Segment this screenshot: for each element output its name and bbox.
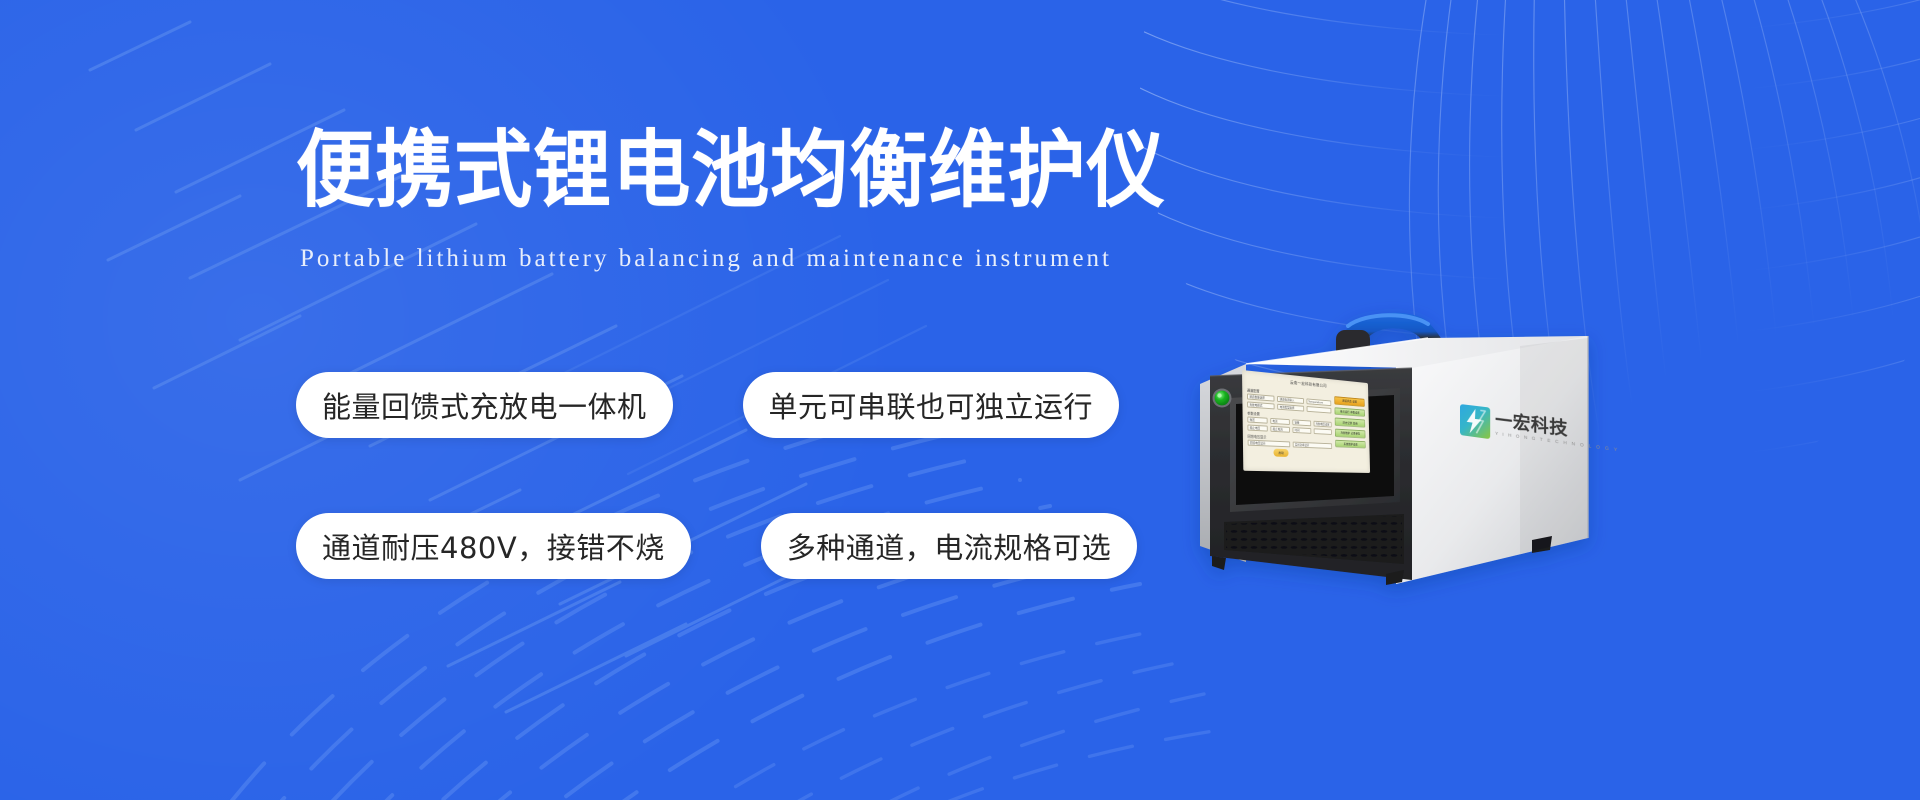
screen-button-unit-params[interactable]: 单元运行 参数设置	[1334, 407, 1365, 417]
screen-field[interactable]: 电池类型选择	[1277, 404, 1303, 412]
feature-row-1: 能量回馈式充放电一体机 单元可串联也可独立运行	[296, 372, 1116, 438]
screen-field[interactable]: 电压	[1247, 416, 1267, 423]
company-logo-icon	[1460, 404, 1490, 439]
banner-text-content: 便携式锂电池均衡维护仪 Portable lithium battery bal…	[0, 0, 1150, 800]
screen-field[interactable]: 充放电模式	[1247, 401, 1275, 409]
screen-field[interactable]: 均衡电压设定	[1314, 421, 1332, 428]
device-screen-ui[interactable]: 云南一宏科技有限公司 通道配置 通道数量选择 通道电流输入 Temperatur…	[1242, 370, 1370, 473]
page-subtitle: Portable lithium battery balancing and m…	[300, 245, 1112, 273]
screen-field[interactable]: 实时功率显示	[1293, 442, 1332, 449]
screen-button-system[interactable]: 系统维护设置	[1335, 440, 1366, 449]
screen-field[interactable]: Temperature	[1306, 398, 1331, 406]
screen-button-channel-status[interactable]: 通道状态 设置	[1334, 396, 1364, 406]
screen-field[interactable]: 回馈电压显示	[1248, 440, 1291, 448]
screen-field[interactable]: 截止电压	[1247, 424, 1267, 431]
screen-field[interactable]: 容量	[1292, 419, 1311, 426]
feature-pill-channel-options[interactable]: 多种通道，电流规格可选	[761, 513, 1138, 579]
page-title: 便携式锂电池均衡维护仪	[296, 128, 1166, 212]
screen-start-button[interactable]: 启动	[1273, 449, 1288, 457]
screen-field[interactable]: 通道电流输入	[1277, 396, 1303, 404]
feature-row-2: 通道耐压480V，接错不烧 多种通道，电流规格可选	[296, 513, 1116, 579]
screen-button-column: 通道状态 设置 单元运行 参数设置 历史记录 查询 均衡维护 记录保存 系统维护…	[1334, 392, 1366, 459]
screen-field[interactable]	[1306, 406, 1331, 414]
product-banner: 便携式锂电池均衡维护仪 Portable lithium battery bal…	[0, 0, 1920, 800]
screen-field[interactable]: 通道数量选择	[1247, 393, 1275, 401]
device-illustration: 云南一宏科技有限公司 通道配置 通道数量选择 通道电流输入 Temperatur…	[1160, 288, 1600, 618]
screen-field[interactable]: 截止电流	[1270, 426, 1290, 433]
screen-field[interactable]: 时间	[1292, 427, 1311, 434]
screen-button-history[interactable]: 历史记录 查询	[1335, 418, 1366, 428]
feature-pill-energy-feedback[interactable]: 能量回馈式充放电一体机	[296, 372, 673, 438]
device-chassis	[1160, 288, 1600, 618]
screen-field[interactable]: 电流	[1270, 418, 1290, 425]
feature-pill-channel-voltage[interactable]: 通道耐压480V，接错不烧	[296, 513, 691, 579]
feature-pill-series-or-standalone[interactable]: 单元可串联也可独立运行	[743, 372, 1120, 438]
screen-field[interactable]	[1314, 428, 1332, 435]
feature-pill-grid: 能量回馈式充放电一体机 单元可串联也可独立运行 通道耐压480V，接错不烧 多种…	[296, 372, 1116, 579]
screen-button-save-record[interactable]: 均衡维护 记录保存	[1335, 429, 1366, 438]
